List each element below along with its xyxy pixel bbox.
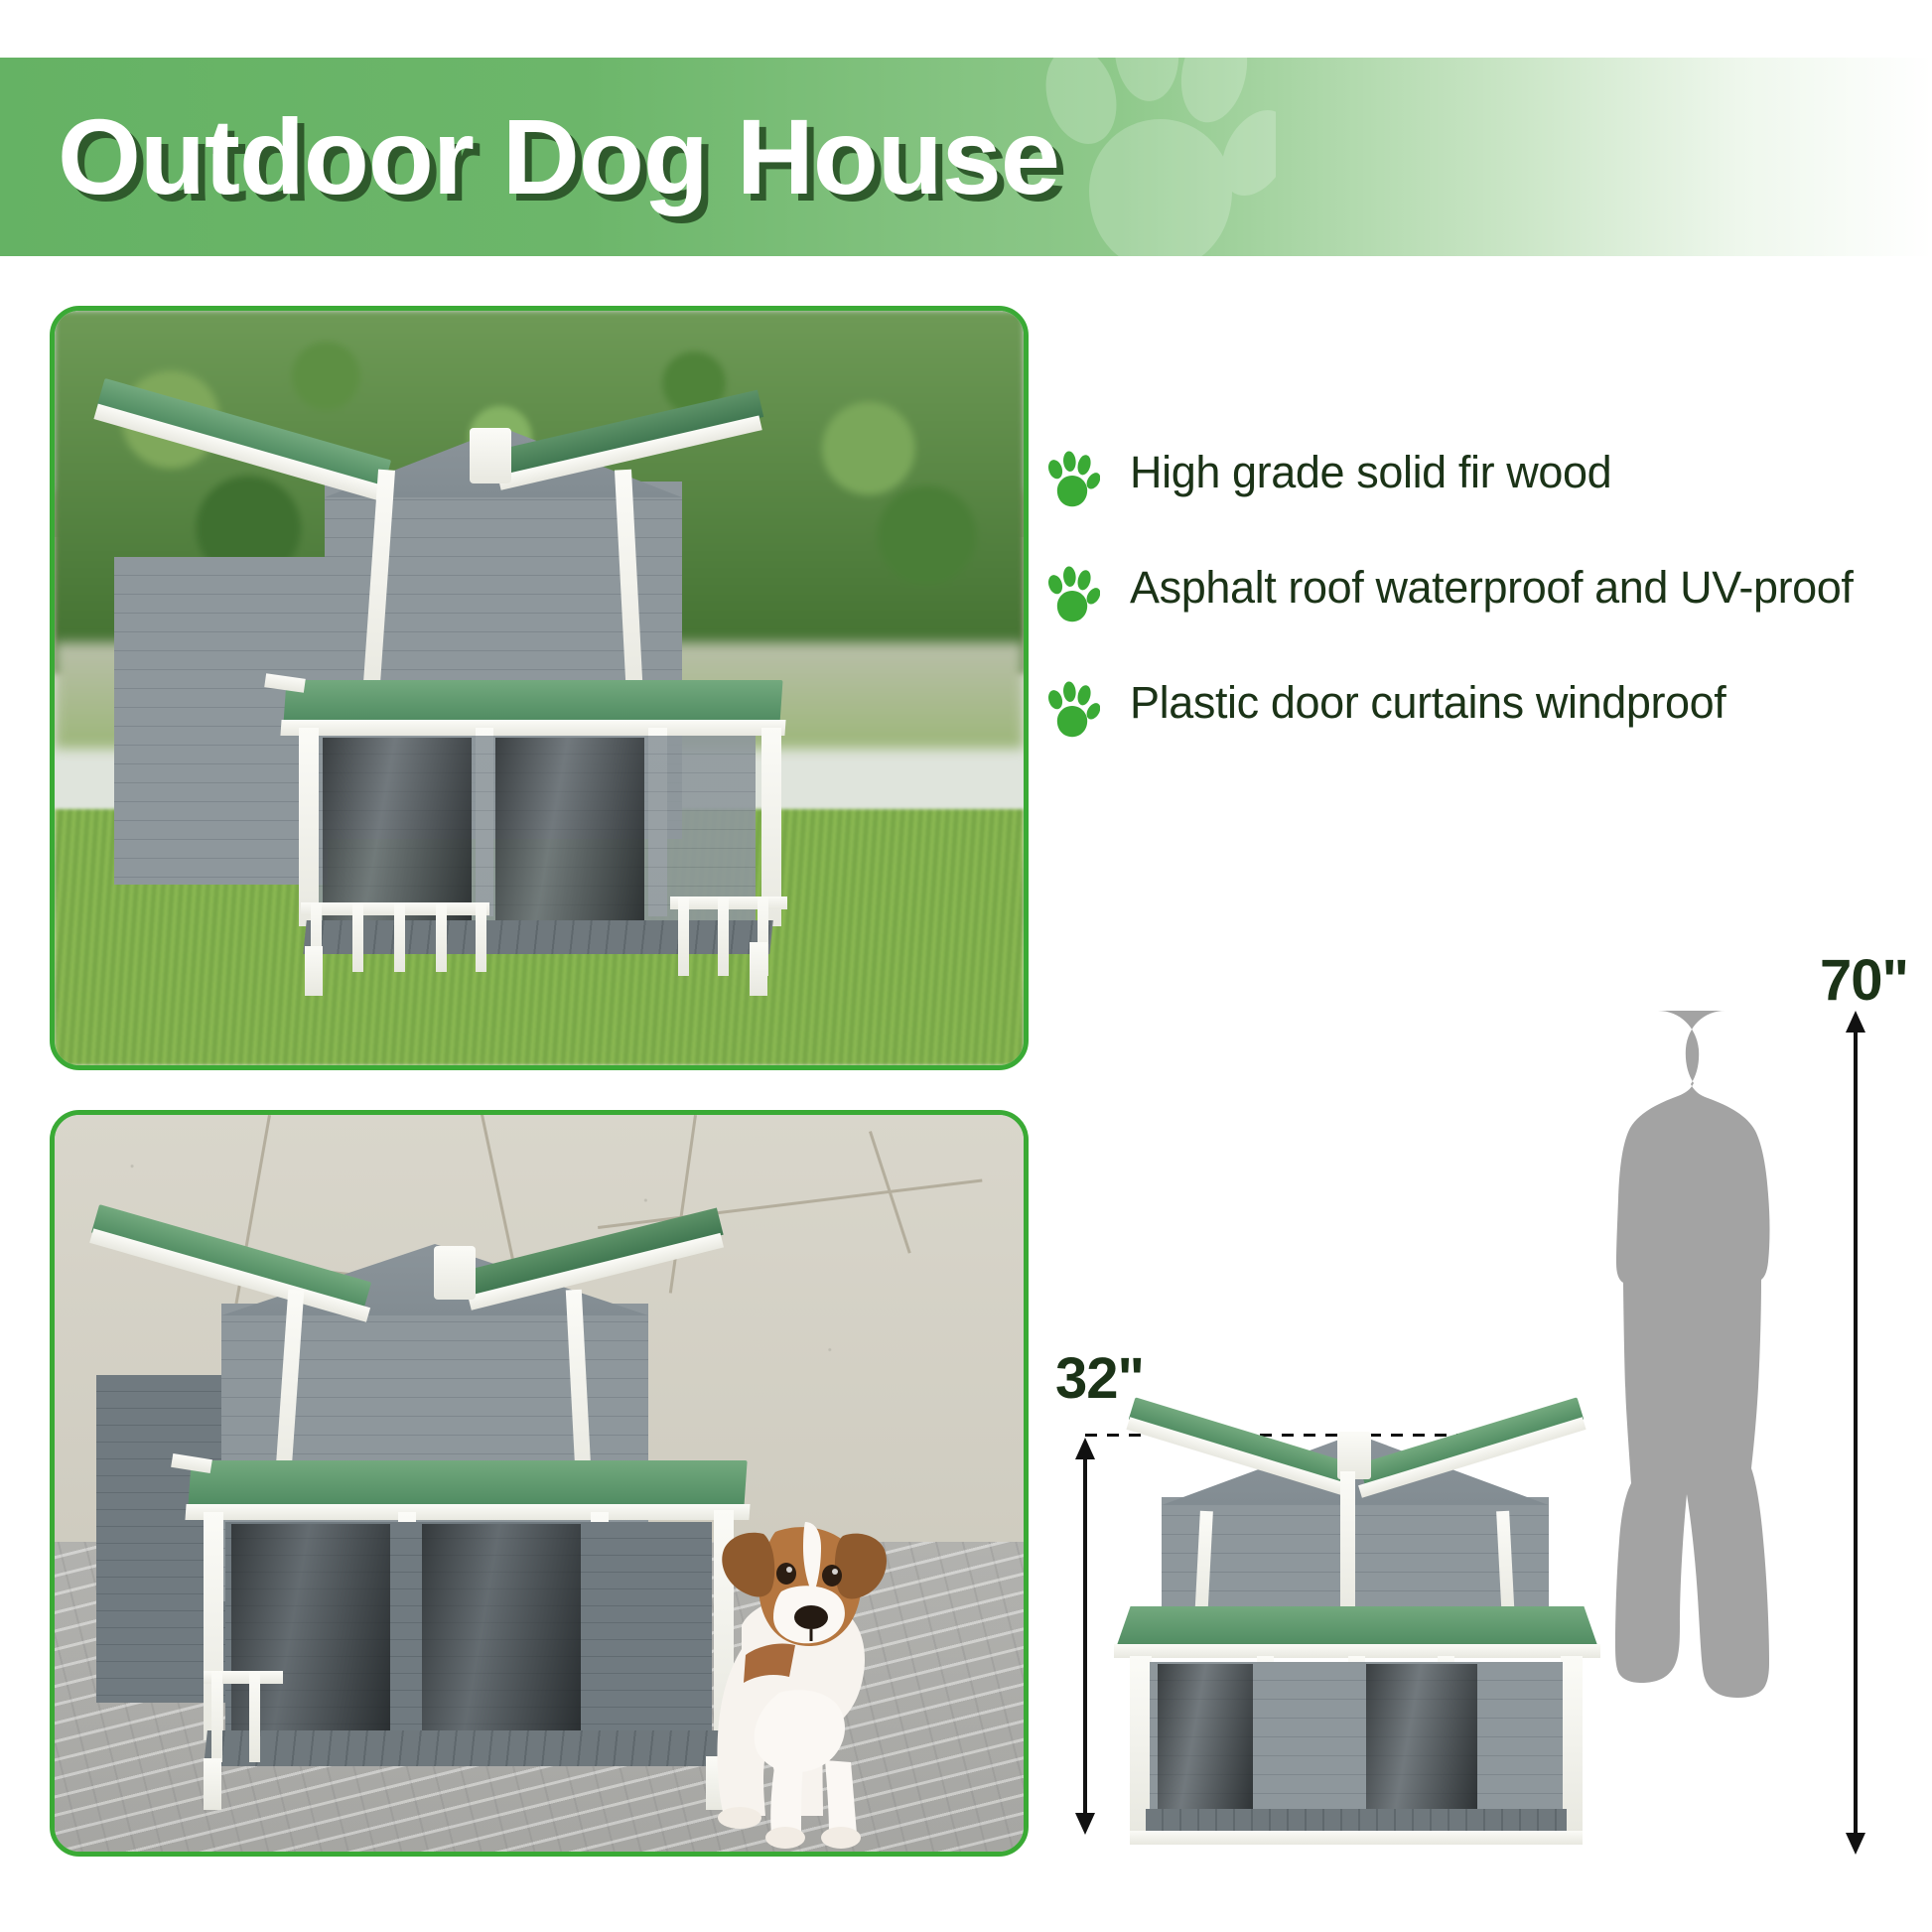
height-label-person: 70" <box>1820 947 1908 1014</box>
page-title: Outdoor Dog House <box>58 103 1059 210</box>
feature-text: Asphalt roof waterproof and UV-proof <box>1130 560 1854 615</box>
dimension-arrow-vertical-70 <box>1843 1011 1868 1855</box>
product-photo-outdoor <box>50 306 1029 1070</box>
feature-item: Asphalt roof waterproof and UV-proof <box>1044 560 1918 623</box>
dimension-arrow-vertical-32 <box>1072 1438 1098 1835</box>
feature-item: Plastic door curtains windproof <box>1044 675 1918 739</box>
person-silhouette <box>1608 1003 1837 1853</box>
header-banner: Outdoor Dog House <box>0 58 1932 256</box>
paw-print-watermark-icon <box>1037 0 1276 288</box>
feature-item: High grade solid fir wood <box>1044 445 1918 508</box>
photo-scene-paving <box>55 1115 1024 1852</box>
feature-list: High grade solid fir wood Asphalt roof w… <box>1044 445 1918 739</box>
infographic-page: Outdoor Dog House <box>0 0 1932 1932</box>
feature-text: High grade solid fir wood <box>1130 445 1611 499</box>
paw-print-icon <box>1044 451 1100 508</box>
photo-scene-grass <box>55 311 1024 1065</box>
height-label-product: 32" <box>1055 1345 1144 1412</box>
product-photo-with-dog <box>50 1110 1029 1857</box>
dog-house-front-view <box>1102 1420 1613 1847</box>
paw-print-icon <box>1044 681 1100 739</box>
feature-text: Plastic door curtains windproof <box>1130 675 1725 730</box>
paw-print-icon <box>1044 566 1100 623</box>
